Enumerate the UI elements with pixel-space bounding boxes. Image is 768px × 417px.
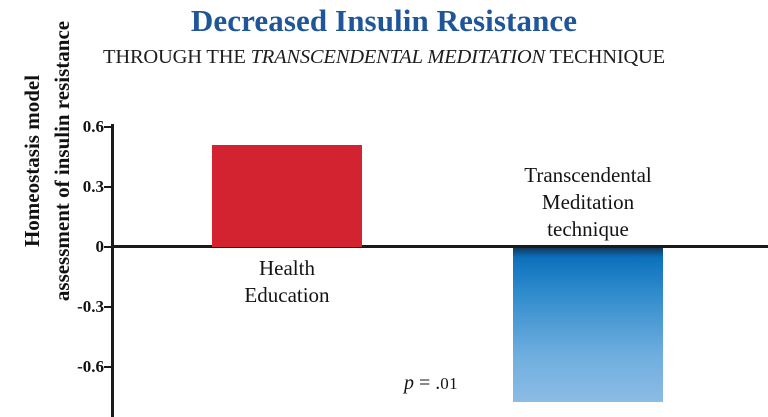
y-tick-wrap-0: 0 (0, 238, 104, 255)
zero-baseline (111, 245, 768, 248)
p-value-digits: 01 (440, 374, 458, 393)
bar-health-education[interactable] (212, 145, 362, 247)
y-tick-label-0.6: 0.6 (44, 118, 104, 135)
p-value-symbol: p (404, 372, 414, 394)
bar-label-health-education-line2: Education (207, 282, 367, 309)
bar-label-tm-technique: Transcendental Meditation technique (478, 162, 698, 243)
y-tick-wrap-minus0.6: -0.6 (0, 358, 104, 375)
y-tick-mark-0.3 (104, 186, 112, 188)
bar-label-health-education-line1: Health (207, 255, 367, 282)
y-tick-label-0.3: 0.3 (44, 178, 104, 195)
y-tick-wrap-0.3: 0.3 (0, 178, 104, 195)
p-value-equals: = . (414, 372, 440, 394)
p-value-annotation: p = .01 (404, 372, 458, 395)
y-tick-label-minus0.3: -0.3 (44, 298, 104, 315)
y-axis-line (111, 124, 114, 417)
bar-chart-plot: Homeostasis model assessment of insulin … (0, 0, 768, 417)
bar-label-tm-technique-line3: technique (478, 216, 698, 243)
bar-label-health-education: Health Education (207, 255, 367, 309)
y-tick-wrap-0.6: 0.6 (0, 118, 104, 135)
bar-label-tm-technique-line1: Transcendental (478, 162, 698, 189)
y-tick-mark-minus0.6 (104, 366, 112, 368)
y-tick-label-minus0.6: -0.6 (44, 358, 104, 375)
y-tick-label-0: 0 (44, 238, 104, 255)
bar-tm-technique[interactable] (513, 248, 663, 402)
bar-label-tm-technique-line2: Meditation (478, 189, 698, 216)
y-tick-mark-minus0.3 (104, 306, 112, 308)
y-tick-wrap-minus0.3: -0.3 (0, 298, 104, 315)
y-tick-mark-0.6 (104, 126, 112, 128)
y-tick-mark-0 (104, 246, 112, 248)
